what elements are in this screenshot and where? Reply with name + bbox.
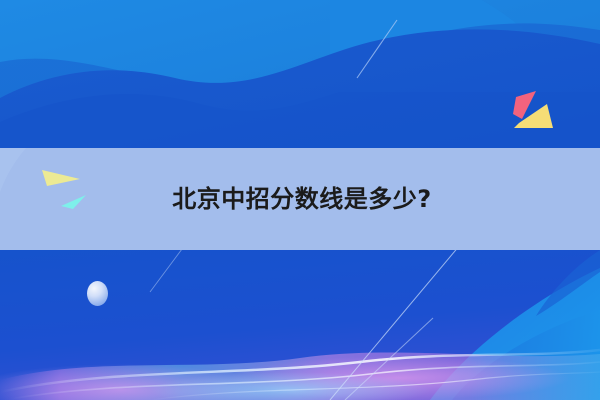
top-banner-section xyxy=(0,0,600,148)
poster-canvas: 北京中招分数线是多少? xyxy=(0,0,600,400)
bottom-banner-section xyxy=(0,250,600,400)
top-wave-graphic xyxy=(0,0,600,148)
title-band: 北京中招分数线是多少? xyxy=(0,148,600,250)
bottom-aurora-graphic xyxy=(0,250,600,400)
sphere-orb-icon xyxy=(87,281,108,306)
page-title: 北京中招分数线是多少? xyxy=(0,148,600,250)
